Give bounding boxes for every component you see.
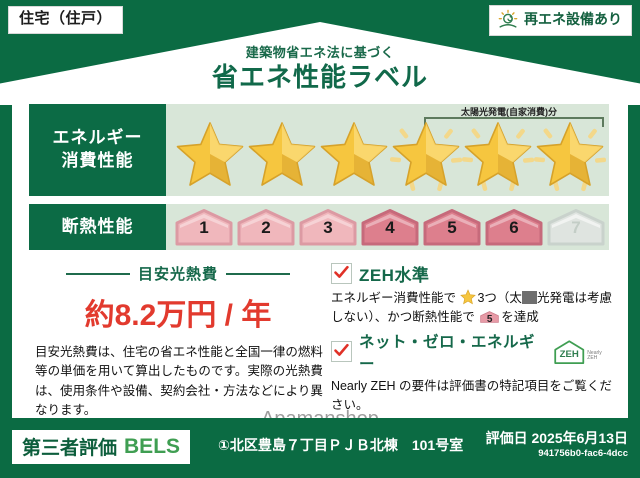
energy-row-label: エネルギー 消費性能 bbox=[29, 104, 166, 196]
footer-bar: 第三者評価 BELS ①北区豊島７丁目ＰＪＢ北棟 101号室 評価日 2025年… bbox=[0, 418, 640, 478]
insulation-level-house: 1 bbox=[174, 208, 234, 246]
energy-performance-label: 住宅（住戸） 再エネ設備あり 建築物省エネ法に基づく 省エネ性能ラベル エネルギ… bbox=[0, 0, 640, 478]
svg-text:ZEH: ZEH bbox=[559, 349, 578, 360]
label-body-card: エネルギー 消費性能 太陽光発電(自家消費)分 bbox=[12, 96, 628, 418]
insulation-label-text: 断熱性能 bbox=[62, 216, 134, 239]
bels-logo: 第三者評価 BELS bbox=[12, 430, 190, 464]
zeh-house-icon: ZEH bbox=[553, 339, 586, 365]
insulation-level-number: 1 bbox=[174, 218, 234, 238]
net-zero-energy-row: ネット・ゼロ・エネルギー ZEH Nearly ZEH bbox=[331, 330, 612, 374]
insulation-level-number: 4 bbox=[360, 218, 420, 238]
star-icon bbox=[246, 120, 318, 192]
sun-icon bbox=[497, 9, 519, 31]
net-zero-energy-title: ネット・ゼロ・エネルギー bbox=[359, 330, 543, 374]
renewable-badge-label: 再エネ設備あり bbox=[524, 12, 622, 27]
utility-cost-column: 目安光熱費 約8.2万円 / 年 目安光熱費は、住宅の省エネ性能と全国一律の燃料… bbox=[29, 259, 327, 405]
insulation-level-number: 5 bbox=[422, 218, 482, 238]
star-icon bbox=[318, 120, 390, 192]
redaction-block bbox=[522, 291, 537, 304]
heading-rule-left bbox=[66, 273, 130, 275]
star-icon-solar bbox=[534, 120, 606, 192]
utility-cost-heading-text: 目安光熱費 bbox=[138, 263, 218, 284]
checkbox-checked-net-zero bbox=[331, 341, 352, 362]
label-title: 省エネ性能ラベル bbox=[0, 57, 640, 94]
property-address: ①北区豊島７丁目ＰＪＢ北棟 101号室 bbox=[218, 435, 463, 455]
energy-label-line2: 消費性能 bbox=[62, 150, 134, 173]
insulation-level-house: 5 bbox=[422, 208, 482, 246]
star-icon bbox=[174, 120, 246, 192]
insulation-level-house: 2 bbox=[236, 208, 296, 246]
zeh-standard-note: エネルギー消費性能で 3つ（太光発電は考慮しない）、かつ断熱性能で 5 を達成 bbox=[331, 289, 612, 328]
zeh-logo-subtext: Nearly ZEH bbox=[587, 351, 612, 365]
check-icon bbox=[333, 342, 350, 359]
inline-house-level: 5 bbox=[480, 312, 499, 328]
house-type-badge: 住宅（住戸） bbox=[8, 6, 123, 34]
zeh-standard-title: ZEH水準 bbox=[359, 261, 430, 286]
insulation-level-number: 7 bbox=[546, 218, 606, 238]
inline-star-icon bbox=[460, 289, 476, 305]
utility-cost-note: 目安光熱費は、住宅の省エネ性能と全国一律の燃料等の単価を用いて算出したものです。… bbox=[29, 343, 327, 421]
insulation-row-body: 1 2 3 4 5 6 bbox=[166, 204, 609, 250]
zeh-note-part-a: エネルギー消費性能で bbox=[331, 291, 456, 305]
insulation-performance-row: 断熱性能 1 2 3 4 bbox=[29, 204, 609, 250]
zeh-note-part-b: 3つ（太 bbox=[477, 291, 521, 305]
zeh-column: ZEH水準 エネルギー消費性能で 3つ（太光発電は考慮しない）、かつ断熱性能で … bbox=[327, 259, 612, 405]
insulation-row-label: 断熱性能 bbox=[29, 204, 166, 250]
checkbox-checked-zeh-standard bbox=[331, 263, 352, 284]
zeh-logo: ZEH Nearly ZEH bbox=[553, 339, 612, 365]
insulation-level-number: 6 bbox=[484, 218, 544, 238]
zeh-standard-row: ZEH水準 bbox=[331, 261, 612, 286]
star-icon-solar bbox=[390, 120, 462, 192]
check-icon bbox=[333, 264, 350, 281]
zeh-note-part-d: を達成 bbox=[501, 310, 539, 324]
evaluation-id: 941756b0-fac6-4dcc bbox=[538, 448, 628, 459]
inline-house-badge: 5 bbox=[480, 309, 499, 325]
heading-rule-right bbox=[226, 273, 290, 275]
star-rating bbox=[174, 120, 606, 192]
evaluation-date: 評価日 2025年6月13日 bbox=[486, 428, 628, 448]
insulation-level-scale: 1 2 3 4 5 6 bbox=[174, 208, 606, 246]
energy-performance-row: エネルギー 消費性能 太陽光発電(自家消費)分 bbox=[29, 104, 609, 196]
lower-section: 目安光熱費 約8.2万円 / 年 目安光熱費は、住宅の省エネ性能と全国一律の燃料… bbox=[29, 259, 612, 405]
bels-logo-jp: 第三者評価 bbox=[22, 433, 117, 460]
utility-cost-heading: 目安光熱費 bbox=[29, 263, 327, 284]
insulation-level-house: 3 bbox=[298, 208, 358, 246]
utility-cost-value: 約8.2万円 / 年 bbox=[29, 290, 327, 334]
energy-label-line1: エネルギー bbox=[53, 127, 143, 150]
insulation-level-house: 7 bbox=[546, 208, 606, 246]
insulation-level-number: 3 bbox=[298, 218, 358, 238]
star-icon-solar bbox=[462, 120, 534, 192]
insulation-level-house: 6 bbox=[484, 208, 544, 246]
insulation-level-house: 4 bbox=[360, 208, 420, 246]
net-zero-energy-note: Nearly ZEH の要件は評価書の特記項目をご覧ください。 bbox=[331, 377, 612, 416]
bels-logo-en: BELS bbox=[124, 435, 180, 459]
insulation-level-number: 2 bbox=[236, 218, 296, 238]
energy-row-body: 太陽光発電(自家消費)分 bbox=[166, 104, 609, 196]
renewable-equipment-badge: 再エネ設備あり bbox=[489, 5, 632, 36]
